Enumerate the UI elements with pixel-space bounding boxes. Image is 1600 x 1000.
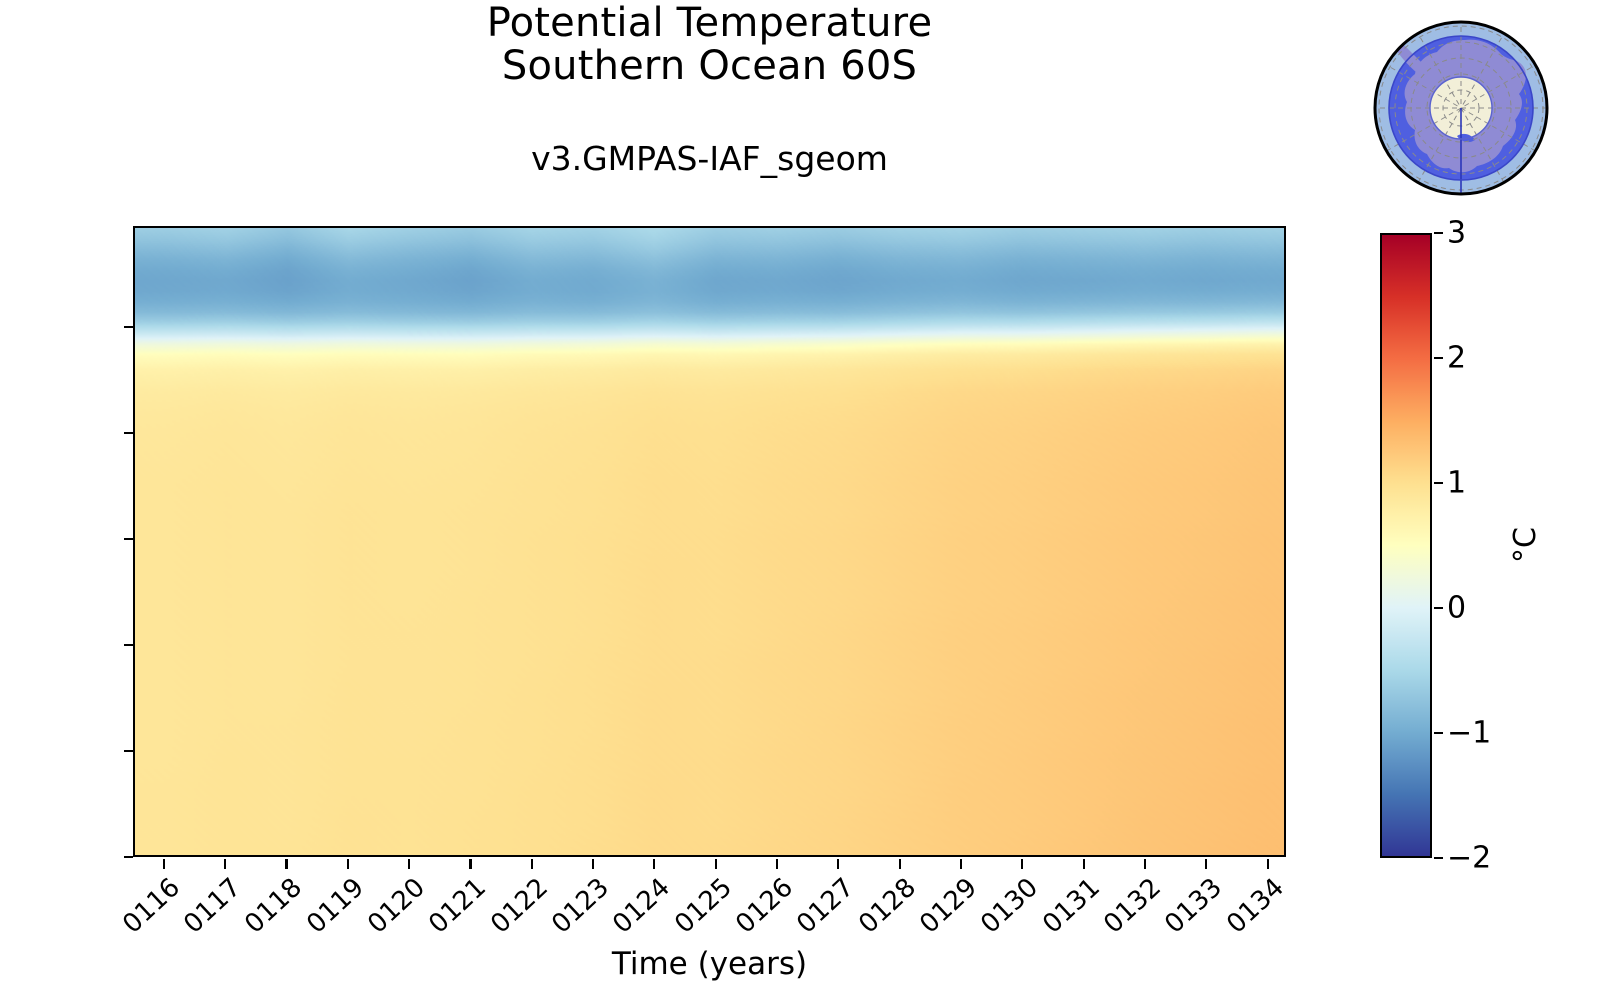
x-axis-tick-label: 0133 (1159, 874, 1226, 940)
x-axis-tick (653, 859, 655, 869)
x-axis-tick (837, 859, 839, 869)
x-axis-tick (1144, 859, 1146, 869)
heatmap-axes (133, 226, 1286, 857)
y-axis-tick (124, 750, 133, 752)
colorbar-tick-label: 3 (1447, 216, 1466, 251)
x-axis-tick-label: 0128 (853, 874, 920, 940)
x-axis-tick (408, 859, 410, 869)
page-title: Potential Temperature Southern Ocean 60S (133, 2, 1286, 88)
figure-subtitle: v3.GMPAS-IAF_sgeom (133, 139, 1286, 178)
colorbar-gradient (1382, 235, 1430, 856)
x-axis-tick-label: 0134 (1221, 874, 1288, 940)
x-axis-tick (715, 859, 717, 869)
x-axis-tick (1021, 859, 1023, 869)
colorbar-tick (1434, 482, 1443, 484)
colorbar-unit-label: °C (1508, 527, 1543, 563)
x-axis-tick (1205, 859, 1207, 869)
x-axis-tick-label: 0120 (362, 874, 429, 940)
colorbar (1380, 233, 1432, 858)
x-axis-tick-label: 0123 (546, 874, 613, 940)
x-axis-tick-label: 0126 (730, 874, 797, 940)
y-axis-tick (124, 856, 133, 858)
colorbar-tick (1434, 607, 1443, 609)
x-axis-tick (163, 859, 165, 869)
x-axis-tick-label: 0129 (914, 874, 981, 940)
y-axis-tick (124, 538, 133, 540)
x-axis-tick-label: 0122 (485, 874, 552, 940)
x-axis-tick (469, 859, 471, 869)
x-axis-tick-label: 0121 (424, 874, 491, 940)
x-axis-tick-label: 0127 (791, 874, 858, 940)
x-axis-tick-label: 0131 (1037, 874, 1104, 940)
inset-svg (1361, 8, 1561, 208)
colorbar-tick (1434, 357, 1443, 359)
x-axis-tick (1083, 859, 1085, 869)
x-axis-tick-label: 0116 (117, 874, 184, 940)
heatmap-canvas (135, 228, 1284, 855)
x-axis-tick (531, 859, 533, 869)
x-axis-tick-label: 0132 (1098, 874, 1165, 940)
x-axis-label: Time (years) (133, 946, 1286, 982)
x-axis-tick-label: 0118 (240, 874, 307, 940)
x-axis-tick-label: 0130 (975, 874, 1042, 940)
x-axis-tick (960, 859, 962, 869)
title-line-2: Southern Ocean 60S (133, 45, 1286, 88)
y-axis-tick (124, 432, 133, 434)
x-axis-tick (899, 859, 901, 869)
colorbar-tick-label: 1 (1447, 466, 1466, 501)
colorbar-tick-label: 2 (1447, 341, 1466, 376)
x-axis-tick (592, 859, 594, 869)
x-axis-tick-label: 0119 (301, 874, 368, 940)
x-axis-tick-label: 0125 (669, 874, 736, 940)
colorbar-tick (1434, 232, 1443, 234)
colorbar-tick (1434, 732, 1443, 734)
y-axis-tick (124, 644, 133, 646)
colorbar-tick (1434, 857, 1443, 859)
x-axis-tick-label: 0124 (607, 874, 674, 940)
x-axis-tick (285, 859, 287, 869)
region-inset-map (1361, 8, 1561, 208)
x-axis-tick (776, 859, 778, 869)
title-line-1: Potential Temperature (133, 2, 1286, 45)
x-axis-tick (224, 859, 226, 869)
colorbar-tick-label: 0 (1447, 591, 1466, 626)
colorbar-tick-label: −1 (1447, 716, 1491, 751)
x-axis-tick (1267, 859, 1269, 869)
x-axis-tick (347, 859, 349, 869)
colorbar-tick-label: −2 (1447, 841, 1491, 876)
x-axis-tick-label: 0117 (178, 874, 245, 940)
y-axis-tick (124, 326, 133, 328)
